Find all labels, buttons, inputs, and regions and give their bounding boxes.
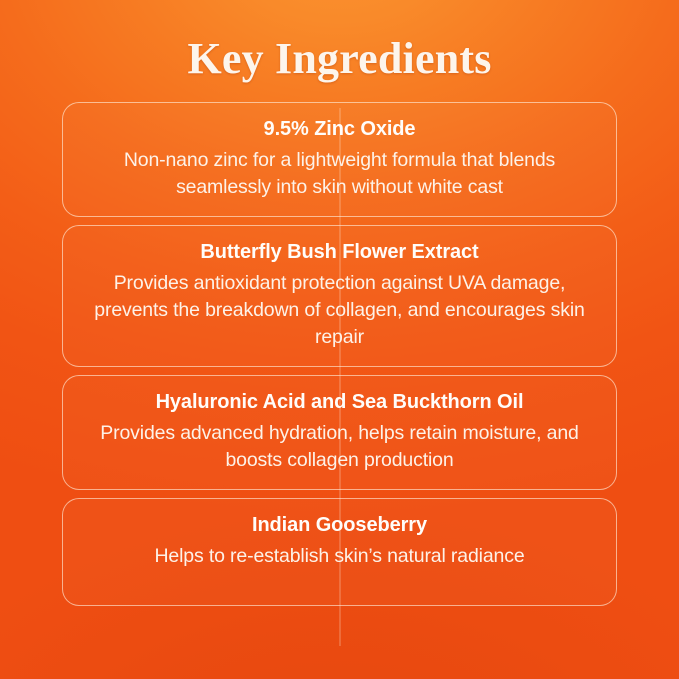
ingredient-card-title: 9.5% Zinc Oxide bbox=[81, 116, 598, 143]
page-title: Key Ingredients bbox=[0, 0, 679, 85]
ingredient-card-description: Helps to re-establish skin’s natural rad… bbox=[81, 543, 598, 570]
ingredient-card: 9.5% Zinc Oxide Non-nano zinc for a ligh… bbox=[62, 102, 617, 217]
ingredient-card: Hyaluronic Acid and Sea Buckthorn Oil Pr… bbox=[62, 375, 617, 490]
ingredient-card-list: 9.5% Zinc Oxide Non-nano zinc for a ligh… bbox=[0, 102, 679, 606]
ingredient-card-title: Butterfly Bush Flower Extract bbox=[81, 239, 598, 266]
ingredient-card-title: Indian Gooseberry bbox=[81, 512, 598, 539]
ingredient-card: Butterfly Bush Flower Extract Provides a… bbox=[62, 225, 617, 367]
ingredient-card: Indian Gooseberry Helps to re-establish … bbox=[62, 498, 617, 606]
ingredient-card-description: Provides advanced hydration, helps retai… bbox=[81, 420, 598, 474]
ingredient-card-description: Provides antioxidant protection against … bbox=[81, 270, 598, 351]
ingredient-card-description: Non-nano zinc for a lightweight formula … bbox=[81, 147, 598, 201]
ingredient-card-title: Hyaluronic Acid and Sea Buckthorn Oil bbox=[81, 389, 598, 416]
key-ingredients-infographic: Key Ingredients 9.5% Zinc Oxide Non-nano… bbox=[0, 0, 679, 679]
